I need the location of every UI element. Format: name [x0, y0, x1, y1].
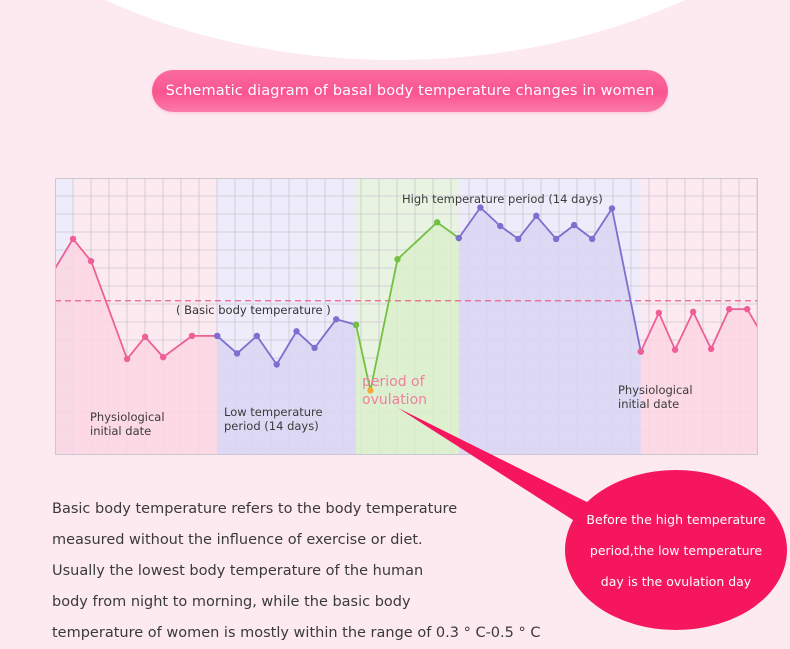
data-point — [744, 306, 750, 312]
description-line-1: Basic body temperature refers to the bod… — [52, 498, 522, 520]
data-point — [656, 310, 662, 316]
data-point — [571, 222, 577, 228]
data-point — [589, 236, 595, 242]
data-point — [434, 219, 440, 225]
data-point — [70, 236, 76, 242]
data-point — [293, 328, 299, 334]
description-line-4: body from night to morning, while the ba… — [52, 591, 522, 613]
data-point — [497, 223, 503, 229]
description-text: Basic body temperature refers to the bod… — [52, 498, 522, 649]
description-line-5: temperature of women is mostly within th… — [52, 622, 522, 644]
data-point — [456, 235, 462, 241]
data-point — [638, 348, 644, 354]
data-point — [726, 306, 732, 312]
data-point — [394, 256, 400, 262]
callout-line-2: period,the low temperature — [590, 535, 762, 566]
data-point — [311, 345, 317, 351]
data-point — [142, 334, 148, 340]
data-point — [333, 316, 339, 322]
data-point — [353, 322, 359, 328]
data-point — [533, 213, 539, 219]
infographic-canvas: Schematic diagram of basal body temperat… — [0, 0, 790, 649]
data-point — [553, 236, 559, 242]
data-point — [124, 356, 130, 362]
data-point — [234, 350, 240, 356]
callout-line-3: day is the ovulation day — [601, 566, 751, 597]
data-point — [254, 333, 260, 339]
data-point — [515, 236, 521, 242]
data-point — [672, 347, 678, 353]
high-temperature-period-label: High temperature period (14 days) — [402, 192, 603, 206]
data-point — [274, 361, 280, 367]
page-title: Schematic diagram of basal body temperat… — [166, 83, 655, 99]
data-point — [160, 354, 166, 360]
data-point — [214, 333, 220, 339]
callout-line-1: Before the high temperature — [586, 504, 765, 535]
description-line-2: measured without the influence of exerci… — [52, 529, 522, 551]
description-line-3: Usually the lowest body temperature of t… — [52, 560, 522, 582]
data-point — [708, 346, 714, 352]
physiological-initial-date-label-right: Physiological initial date — [618, 383, 693, 411]
data-point — [609, 205, 615, 211]
baseline-label: ( Basic body temperature ) — [176, 303, 331, 317]
page-title-pill: Schematic diagram of basal body temperat… — [152, 70, 668, 112]
data-point — [690, 309, 696, 315]
physiological-initial-date-label-left: Physiological initial date — [90, 410, 165, 438]
low-temperature-period-label: Low temperature period (14 days) — [224, 405, 323, 433]
callout-bubble: Before the high temperature period,the l… — [565, 470, 787, 630]
ovulation-period-label: period of ovulation — [362, 373, 427, 409]
data-point — [189, 333, 195, 339]
data-point — [88, 258, 94, 264]
